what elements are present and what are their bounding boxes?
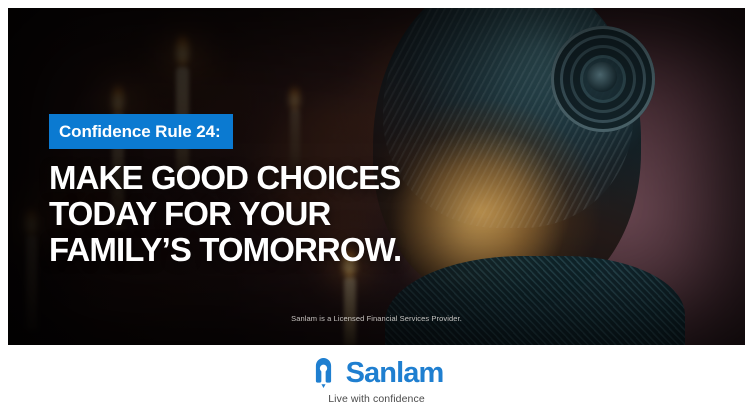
brand-tagline: Live with confidence xyxy=(0,393,753,405)
legal-disclaimer: Sanlam is a Licensed Financial Services … xyxy=(8,314,745,323)
copy-block: Confidence Rule 24: MAKE GOOD CHOICES TO… xyxy=(49,114,479,268)
sanlam-pen-nib-icon xyxy=(310,358,337,388)
footer-bar: Sanlam Live with confidence xyxy=(0,345,753,414)
hero-photo: Confidence Rule 24: MAKE GOOD CHOICES TO… xyxy=(8,8,745,345)
headline-line-2: TODAY FOR YOUR xyxy=(49,196,479,232)
headline-line-1: MAKE GOOD CHOICES xyxy=(49,160,479,196)
brand-logo[interactable]: Sanlam xyxy=(0,358,753,388)
confidence-rule-badge: Confidence Rule 24: xyxy=(49,114,233,149)
sanlam-advertisement: Confidence Rule 24: MAKE GOOD CHOICES TO… xyxy=(0,0,753,414)
headline: MAKE GOOD CHOICES TODAY FOR YOUR FAMILY’… xyxy=(49,160,479,268)
logo-wordmark: Sanlam xyxy=(346,359,444,388)
headline-line-3: FAMILY’S TOMORROW. xyxy=(49,232,479,268)
